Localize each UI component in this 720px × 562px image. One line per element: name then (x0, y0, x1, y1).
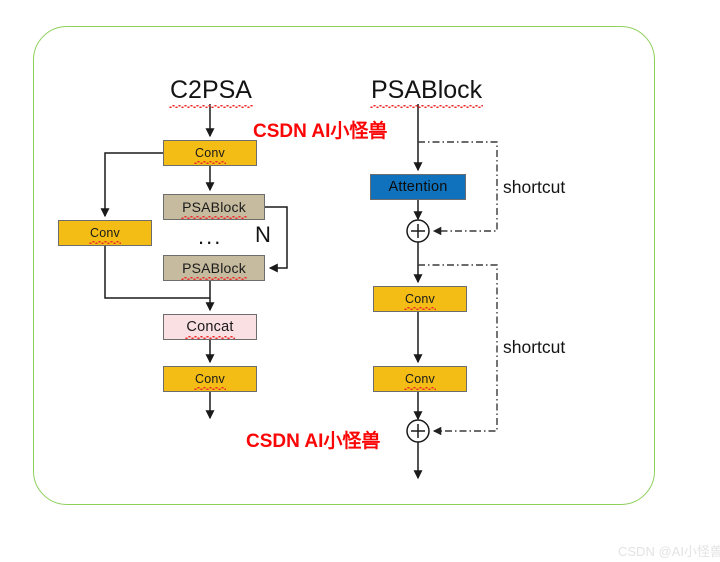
node-conv-mid-1[interactable]: Conv (373, 286, 467, 312)
node-psablock-n-label: PSABlock (182, 260, 246, 276)
node-attention[interactable]: Attention (370, 174, 466, 200)
node-conv-side[interactable]: Conv (58, 220, 152, 246)
node-psablock-1[interactable]: PSABlock (163, 194, 265, 220)
node-psablock-1-label: PSABlock (182, 199, 246, 215)
node-conv-mid-2[interactable]: Conv (373, 366, 467, 392)
right-branch-title: PSABlock (371, 76, 482, 105)
node-concat[interactable]: Concat (163, 314, 257, 340)
annotation-red-bottom: CSDN AI小怪兽 (246, 426, 380, 453)
node-conv-top-label: Conv (195, 146, 225, 160)
shortcut-label-2: shortcut (503, 337, 565, 358)
annotation-red-top: CSDN AI小怪兽 (253, 116, 387, 143)
node-conv-mid-1-label: Conv (405, 292, 435, 306)
diagram-canvas: C2PSA PSABlock Conv PSABlock PSABlock Co… (0, 0, 720, 562)
node-conv-bottom[interactable]: Conv (163, 366, 257, 392)
left-branch-title: C2PSA (170, 76, 252, 105)
node-conv-mid-2-label: Conv (405, 372, 435, 386)
right-branch-title-text: PSABlock (371, 76, 482, 105)
node-attention-label: Attention (388, 179, 447, 195)
repeat-ellipsis: ... (198, 224, 222, 250)
node-conv-top[interactable]: Conv (163, 140, 257, 166)
node-conv-bottom-label: Conv (195, 372, 225, 386)
node-conv-side-label: Conv (90, 226, 120, 240)
repeat-count-label: N (255, 222, 271, 248)
node-psablock-n[interactable]: PSABlock (163, 255, 265, 281)
watermark: CSDN @AI小怪兽 (618, 541, 720, 560)
shortcut-label-1: shortcut (503, 177, 565, 198)
left-branch-title-text: C2PSA (170, 76, 252, 105)
node-concat-label: Concat (186, 319, 233, 335)
